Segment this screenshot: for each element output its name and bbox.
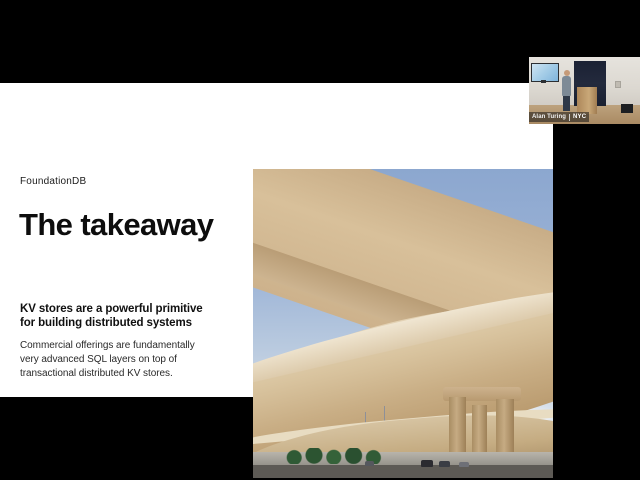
slide-body-heading: KV stores are a powerful primitive for b…: [20, 302, 208, 330]
video-player-stage: FoundationDB The takeaway KV stores are …: [0, 0, 640, 480]
roadside-shrubs: [281, 448, 391, 464]
presenter-torso: [562, 76, 571, 96]
badge-divider-icon: [569, 114, 570, 121]
presentation-slide: FoundationDB The takeaway KV stores are …: [0, 83, 553, 397]
vehicle-4: [365, 461, 374, 466]
presenter-legs: [563, 95, 570, 111]
screen-mount: [541, 80, 546, 83]
slide-photo-highway-interchange: [253, 169, 553, 478]
vehicle-3: [459, 462, 469, 467]
floor-speaker: [621, 104, 633, 113]
speaker-location-label: NYC: [573, 114, 586, 120]
wooden-podium: [577, 87, 597, 114]
speaker-name-label: Alan Turing: [532, 114, 566, 120]
slide-title: The takeaway: [19, 207, 213, 243]
vehicle-1: [421, 460, 433, 467]
slide-body-paragraph: Commercial offerings are fundamentally v…: [20, 339, 208, 381]
webcam-overlay[interactable]: Alan Turing NYC: [529, 57, 640, 124]
slide-body-block: KV stores are a powerful primitive for b…: [20, 302, 208, 381]
slide-logo: FoundationDB: [20, 176, 86, 187]
wall-outlet: [615, 81, 621, 88]
webcam-name-badge: Alan Turing NYC: [529, 112, 589, 122]
vehicle-2: [439, 461, 450, 467]
presenter-head: [564, 70, 570, 76]
surface-roadway: [253, 465, 553, 478]
